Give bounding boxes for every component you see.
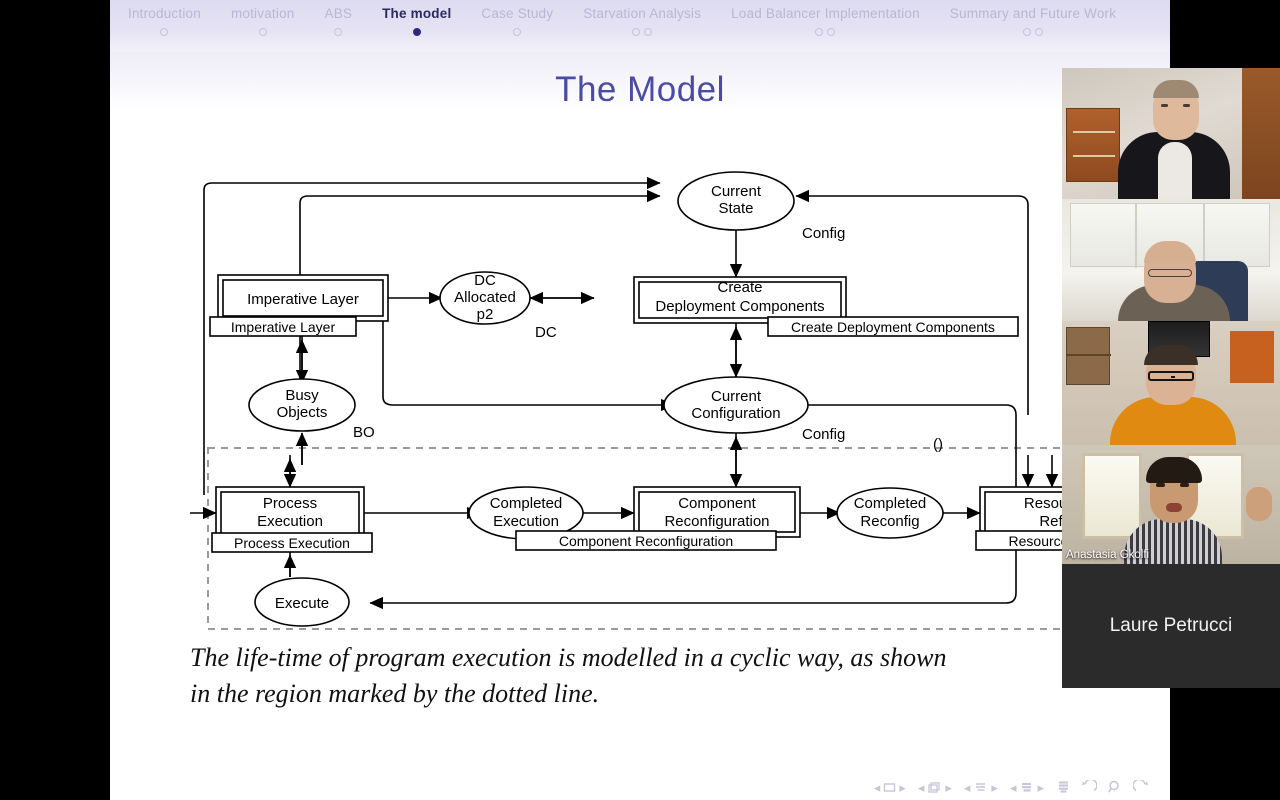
trans-comp-reconf-l1: Component — [678, 495, 756, 512]
nav-section-starvation-analysis[interactable]: Starvation Analysis — [583, 6, 701, 36]
nav-section-label: Load Balancer Implementation — [731, 6, 920, 22]
beamer-subsection-nav: ◂▸ — [918, 781, 952, 794]
nav-section-load-balancer-implementation[interactable]: Load Balancer Implementation — [731, 6, 920, 36]
place-completed-exec-l1: Completed — [490, 495, 563, 512]
doc-icon[interactable] — [973, 781, 988, 794]
place-current-config-l2: Configuration — [691, 405, 780, 422]
place-current-config-l1: Current — [711, 388, 762, 405]
next-arrow-icon[interactable]: ▸ — [1037, 781, 1044, 794]
beamer-section-nav: IntroductionmotivationABSThe modelCase S… — [110, 6, 1170, 52]
nav-section-the-model[interactable]: The model — [382, 6, 451, 36]
trans-comp-reconf-l2: Reconfiguration — [664, 513, 769, 530]
slide-caption: The life-time of program execution is mo… — [190, 640, 1120, 712]
participant-name: Laure Petrucci — [1110, 615, 1233, 637]
place-busy-objects-l1: Busy — [285, 387, 319, 404]
place-dc-allocated-type: DC — [535, 324, 557, 341]
participant-tile-no-video[interactable]: Laure Petrucci — [1062, 564, 1280, 688]
nav-subsection-dots — [160, 28, 168, 36]
nav-section-label: Summary and Future Work — [950, 6, 1116, 22]
trans-process-exec-l2: Execution — [257, 513, 323, 530]
nav-section-label: The model — [382, 6, 451, 22]
nav-section-label: ABS — [324, 6, 352, 22]
nav-section-motivation[interactable]: motivation — [231, 6, 295, 36]
participant-tile[interactable] — [1062, 199, 1280, 321]
place-completed-exec-l2: Execution — [493, 513, 559, 530]
trans-process-exec-l1: Process — [263, 495, 317, 512]
nav-dot[interactable] — [413, 28, 421, 36]
nav-section-introduction[interactable]: Introduction — [128, 6, 201, 36]
document-icon[interactable] — [1056, 780, 1071, 794]
webcam-frame — [1062, 68, 1280, 199]
prev-arrow-icon[interactable]: ◂ — [918, 781, 925, 794]
participant-tile[interactable] — [1062, 321, 1280, 445]
place-busy-objects-l2: Objects — [277, 404, 328, 421]
prev-arrow-icon[interactable]: ◂ — [1010, 781, 1017, 794]
nav-dot[interactable] — [1023, 28, 1031, 36]
participant-tile[interactable] — [1062, 68, 1280, 199]
beamer-presentation-nav: ◂▸ — [1010, 781, 1044, 794]
arc-annotation: () — [933, 436, 943, 453]
trans-create-dc-l2: Deployment Components — [655, 298, 824, 315]
place-completed-reconfig-l1: Completed — [854, 495, 927, 512]
next-arrow-icon[interactable]: ▸ — [991, 781, 998, 794]
screen-share-view: IntroductionmotivationABSThe modelCase S… — [0, 0, 1280, 800]
nav-section-label: motivation — [231, 6, 295, 22]
nav-subsection-dots — [513, 28, 521, 36]
back-icon[interactable] — [1081, 780, 1097, 794]
trans-comp-reconf-tag: Component Reconfiguration — [559, 533, 733, 549]
nav-dot[interactable] — [259, 28, 267, 36]
place-dc-allocated-l1: DC — [474, 272, 496, 289]
place-current-state-type: Config — [802, 225, 845, 242]
caption-line-2: in the region marked by the dotted line. — [190, 676, 1120, 712]
doc-bold-icon[interactable] — [1019, 781, 1034, 794]
participant-tile-active-speaker[interactable]: Anastasia Gkolfi — [1062, 445, 1280, 564]
next-arrow-icon[interactable]: ▸ — [899, 781, 906, 794]
nav-dot[interactable] — [513, 28, 521, 36]
place-current-config-type: Config — [802, 426, 845, 443]
place-current-state-l2: State — [718, 200, 753, 217]
trans-create-dc-tag: Create Deployment Components — [791, 319, 995, 335]
trans-imperative-layer-l1: Imperative Layer — [247, 291, 359, 308]
forward-icon[interactable] — [1133, 780, 1149, 794]
place-dc-allocated-l2: Allocated — [454, 289, 516, 306]
place-completed-reconfig-l2: Reconfig — [860, 513, 919, 530]
trans-process-exec-tag: Process Execution — [234, 535, 350, 551]
next-arrow-icon[interactable]: ▸ — [945, 781, 952, 794]
webcam-frame — [1062, 199, 1280, 321]
nav-dot[interactable] — [632, 28, 640, 36]
beamer-frame-nav: ◂▸ — [874, 781, 906, 794]
nav-dot[interactable] — [827, 28, 835, 36]
place-dc-allocated-l3: p2 — [477, 306, 494, 323]
beamer-navigation-symbols[interactable]: ◂▸◂▸◂▸◂▸ — [874, 780, 1156, 794]
webcam-frame — [1062, 445, 1280, 564]
page-title: The Model — [110, 70, 1170, 110]
frame-icon[interactable] — [883, 781, 896, 794]
presentation-slide: IntroductionmotivationABSThe modelCase S… — [110, 0, 1170, 800]
nav-dot[interactable] — [644, 28, 652, 36]
petri-net-diagram: Current State Config Imperative Layer Im… — [190, 165, 1150, 645]
nav-subsection-dots — [1023, 28, 1043, 36]
trans-imperative-layer-tag: Imperative Layer — [231, 319, 336, 335]
prev-arrow-icon[interactable]: ◂ — [874, 781, 881, 794]
nav-section-abs[interactable]: ABS — [324, 6, 352, 36]
nav-dot[interactable] — [160, 28, 168, 36]
search-icon[interactable] — [1107, 780, 1123, 794]
nav-section-label: Case Study — [481, 6, 553, 22]
nav-section-case-study[interactable]: Case Study — [481, 6, 553, 36]
place-execute-l1: Execute — [275, 595, 329, 612]
nav-subsection-dots — [413, 28, 421, 36]
participant-name: Anastasia Gkolfi — [1066, 549, 1149, 561]
slides-icon[interactable] — [927, 781, 942, 794]
nav-dot[interactable] — [1035, 28, 1043, 36]
nav-subsection-dots — [334, 28, 342, 36]
video-participants-panel: Anastasia Gkolfi Laure Petrucci — [1062, 68, 1280, 688]
beamer-section-nav: ◂▸ — [964, 781, 998, 794]
nav-subsection-dots — [632, 28, 652, 36]
prev-arrow-icon[interactable]: ◂ — [964, 781, 971, 794]
nav-dot[interactable] — [815, 28, 823, 36]
place-current-state-l1: Current — [711, 183, 762, 200]
nav-subsection-dots — [815, 28, 835, 36]
nav-section-summary-and-future-work[interactable]: Summary and Future Work — [950, 6, 1116, 36]
place-busy-objects-type: BO — [353, 424, 375, 441]
nav-section-label: Introduction — [128, 6, 201, 22]
nav-section-label: Starvation Analysis — [583, 6, 701, 22]
nav-dot[interactable] — [334, 28, 342, 36]
webcam-frame — [1062, 321, 1280, 445]
trans-create-dc-l1: Create — [717, 279, 762, 296]
caption-line-1: The life-time of program execution is mo… — [190, 640, 1120, 676]
nav-subsection-dots — [259, 28, 267, 36]
